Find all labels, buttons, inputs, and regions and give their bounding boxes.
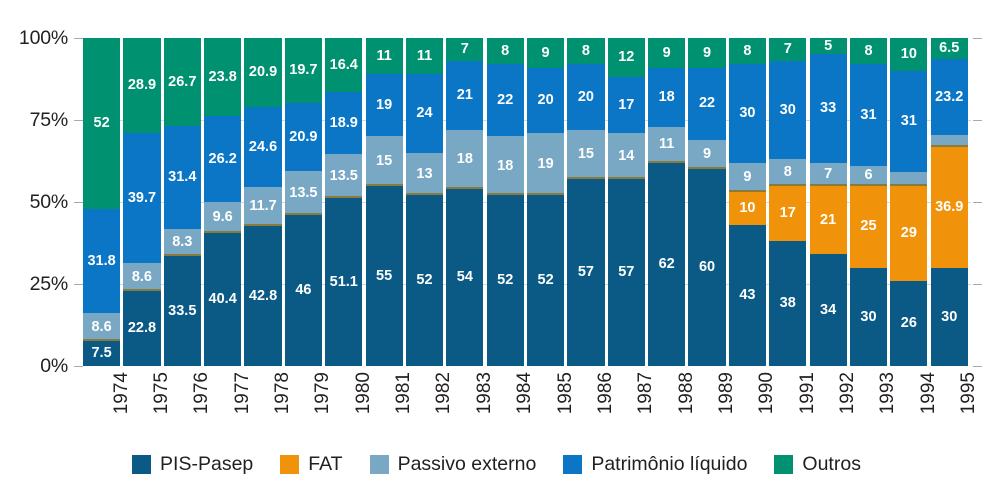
bar-segment-patrim-nio-l-quido[interactable]: 31.8 <box>83 209 120 313</box>
bar-1991[interactable]: 73081738 <box>769 38 806 366</box>
x-axis-label-1980: 1980 <box>353 372 375 414</box>
bar-segment-pis-pasep[interactable]: 26 <box>890 281 927 366</box>
x-axis-label-1983: 1983 <box>474 372 496 414</box>
bar-segment-value: 11 <box>659 137 674 152</box>
bar-segment-passivo-externo[interactable] <box>931 135 968 146</box>
legend-label: Passivo externo <box>398 453 537 476</box>
bar-segment-value: 20 <box>578 90 594 105</box>
bar-segment-value: 8 <box>582 44 590 59</box>
bar-1994[interactable]: 10312926 <box>890 38 927 366</box>
x-axis-label-1986: 1986 <box>595 372 617 414</box>
bar-1990[interactable]: 83091043 <box>729 38 766 366</box>
bar-segment-value: 30 <box>739 106 755 121</box>
bar-segment-fat[interactable]: 25 <box>850 186 887 268</box>
y-axis-tick-mark-right <box>973 366 982 367</box>
y-axis-tick-mark <box>74 366 83 367</box>
bar-segment-value: 57 <box>578 265 594 280</box>
bar-segment-passivo-externo[interactable]: 6 <box>850 166 887 186</box>
bar-segment-value: 28.9 <box>128 78 156 93</box>
bar-segment-pis-pasep[interactable]: 40.4 <box>204 233 241 366</box>
x-axis-label-1989: 1989 <box>716 372 738 414</box>
bar-segment-value: 15 <box>578 147 594 162</box>
legend-label: PIS-Pasep <box>160 453 253 476</box>
bar-segment-value: 8 <box>501 44 509 59</box>
bar-segment-outros[interactable]: 5 <box>810 38 847 54</box>
bar-segment-outros[interactable]: 10 <box>890 38 927 71</box>
bar-segment-value: 52 <box>416 273 432 288</box>
legend-color-swatch <box>774 455 793 474</box>
bar-segment-value: 22 <box>497 93 513 108</box>
bar-segment-value: 8.6 <box>132 270 152 285</box>
bar-segment-value: 17 <box>618 98 634 113</box>
bar-segment-patrim-nio-l-quido[interactable]: 26.2 <box>204 116 241 202</box>
bar-segment-outros[interactable]: 6.5 <box>931 38 968 59</box>
legend-color-swatch <box>563 455 582 474</box>
bar-segment-value: 39.7 <box>128 191 156 206</box>
bar-segment-value: 13 <box>416 167 432 182</box>
bar-1981[interactable]: 11191555 <box>366 38 403 366</box>
bar-segment-passivo-externo[interactable]: 8.6 <box>83 313 120 341</box>
x-axis-label-1993: 1993 <box>877 372 899 414</box>
y-axis-tick-label: 50% <box>30 191 74 214</box>
bar-segment-patrim-nio-l-quido[interactable]: 30 <box>769 61 806 159</box>
bar-segment-passivo-externo[interactable]: 15 <box>567 130 604 179</box>
bar-segment-value: 20.9 <box>289 130 317 145</box>
bar-segment-outros[interactable]: 16.4 <box>325 38 362 92</box>
legend-label: Patrimônio líquido <box>591 453 747 476</box>
bar-segment-pis-pasep[interactable]: 43 <box>729 225 766 366</box>
chart-legend: PIS-PasepFATPassivo externoPatrimônio lí… <box>0 453 993 476</box>
bar-segment-passivo-externo[interactable]: 9 <box>729 163 766 193</box>
bar-segment-value: 8 <box>864 44 872 59</box>
bar-1978[interactable]: 20.924.611.742.8 <box>244 38 281 366</box>
bar-1984[interactable]: 8221852 <box>487 38 524 366</box>
y-axis-tick-mark-right <box>973 38 982 39</box>
bar-segment-pis-pasep[interactable]: 54 <box>446 189 483 366</box>
bar-segment-value: 10 <box>901 47 917 62</box>
bar-segment-value: 5 <box>824 39 832 54</box>
bar-segment-outros[interactable]: 11 <box>366 38 403 74</box>
bar-segment-value: 15 <box>376 154 392 169</box>
bar-segment-value: 52 <box>497 273 513 288</box>
bar-segment-outros[interactable]: 8 <box>729 38 766 64</box>
x-axis-label-1974: 1974 <box>111 372 133 414</box>
bar-segment-value: 11 <box>376 49 391 64</box>
bar-segment-pis-pasep[interactable]: 51.1 <box>325 198 362 366</box>
bar-segment-outros[interactable]: 28.9 <box>123 38 160 133</box>
bar-segment-outros[interactable]: 9 <box>688 38 725 68</box>
bar-segment-pis-pasep[interactable]: 30 <box>931 268 968 366</box>
bar-segment-value: 55 <box>376 269 392 284</box>
bar-segment-pis-pasep[interactable]: 42.8 <box>244 226 281 366</box>
y-axis-tick-mark <box>74 284 83 285</box>
y-axis-tick-label: 25% <box>30 273 74 296</box>
bar-1983[interactable]: 7211854 <box>446 38 483 366</box>
bar-segment-value: 18 <box>497 159 513 174</box>
bar-1977[interactable]: 23.826.29.640.4 <box>204 38 241 366</box>
y-axis-tick-label: 0% <box>40 355 74 378</box>
bar-segment-passivo-externo[interactable] <box>890 172 927 185</box>
stacked-bar-chart: 0%25%50%75%100% 5231.88.67.528.939.78.62… <box>0 0 993 484</box>
legend-color-swatch <box>370 455 389 474</box>
bar-segment-fat[interactable]: 10 <box>729 192 766 225</box>
y-axis-tick-label: 75% <box>30 109 74 132</box>
bar-segment-value: 6.5 <box>939 41 959 56</box>
bar-segment-value: 38 <box>780 296 796 311</box>
bar-segment-patrim-nio-l-quido[interactable]: 24.6 <box>244 107 281 188</box>
bar-1995[interactable]: 6.523.236.930 <box>931 38 968 366</box>
bar-segment-pis-pasep[interactable]: 55 <box>366 186 403 366</box>
bar-1989[interactable]: 922960 <box>688 38 725 366</box>
legend-item-pis-pasep[interactable]: PIS-Pasep <box>132 453 253 476</box>
bar-segment-value: 20.9 <box>249 65 277 80</box>
x-axis-label-1979: 1979 <box>312 372 334 414</box>
bar-segment-patrim-nio-l-quido[interactable]: 31 <box>850 64 887 166</box>
x-axis-label-1995: 1995 <box>958 372 980 414</box>
bar-segment-value: 52 <box>94 116 110 131</box>
bar-segment-patrim-nio-l-quido[interactable]: 18.9 <box>325 92 362 154</box>
bar-1982[interactable]: 11241352 <box>406 38 443 366</box>
y-axis-tick-mark-right <box>973 202 982 203</box>
bar-segment-value: 8 <box>743 44 751 59</box>
bar-segment-value: 31 <box>901 114 917 129</box>
bar-segment-value: 25 <box>860 219 876 234</box>
bar-segment-patrim-nio-l-quido[interactable]: 33 <box>810 54 847 162</box>
bar-segment-fat[interactable]: 17 <box>769 186 806 242</box>
bar-segment-value: 23.2 <box>935 90 963 105</box>
bar-segment-outros[interactable]: 7 <box>446 38 483 61</box>
bar-segment-value: 9 <box>542 46 550 61</box>
bar-segment-value: 42.8 <box>249 289 277 304</box>
bar-segment-pis-pasep[interactable]: 60 <box>688 169 725 366</box>
legend-label: Outros <box>802 453 861 476</box>
x-axis-label-1984: 1984 <box>514 372 536 414</box>
bar-segment-pis-pasep[interactable]: 62 <box>648 163 685 366</box>
bar-segment-value: 12 <box>618 50 634 65</box>
bar-segment-value: 21 <box>457 88 473 103</box>
bar-segment-value: 54 <box>457 270 473 285</box>
bar-segment-value: 9 <box>703 46 711 61</box>
bar-segment-pis-pasep[interactable]: 52 <box>487 195 524 366</box>
bar-segment-fat[interactable]: 36.9 <box>931 147 968 268</box>
bar-segment-value: 31 <box>860 108 876 123</box>
bar-segment-pis-pasep[interactable]: 38 <box>769 241 806 366</box>
bar-segment-value: 8 <box>784 165 792 180</box>
bar-segment-value: 18 <box>659 90 675 105</box>
x-axis-label-1981: 1981 <box>393 372 415 414</box>
bar-segment-patrim-nio-l-quido[interactable]: 22 <box>688 68 725 140</box>
bar-segment-value: 26.2 <box>209 152 237 167</box>
bar-segment-value: 13.5 <box>289 186 317 201</box>
bar-segment-patrim-nio-l-quido[interactable]: 22 <box>487 64 524 136</box>
bar-segment-value: 6 <box>864 168 872 183</box>
bar-segment-value: 23.8 <box>209 70 237 85</box>
y-axis-tick-mark <box>74 38 83 39</box>
bar-segment-value: 22.8 <box>128 321 156 336</box>
x-axis-label-1976: 1976 <box>191 372 213 414</box>
bar-segment-value: 60 <box>699 260 715 275</box>
bar-1988[interactable]: 9181162 <box>648 38 685 366</box>
bar-segment-value: 30 <box>860 310 876 325</box>
legend-color-swatch <box>132 455 151 474</box>
bar-segment-value: 24 <box>416 106 432 121</box>
bar-segment-passivo-externo[interactable]: 9 <box>688 140 725 170</box>
x-axis-label-1992: 1992 <box>837 372 859 414</box>
bar-segment-outros[interactable]: 20.9 <box>244 38 281 107</box>
bar-segment-pis-pasep[interactable]: 57 <box>567 179 604 366</box>
bar-segment-value: 40.4 <box>209 292 237 307</box>
bar-segment-outros[interactable]: 23.8 <box>204 38 241 116</box>
x-axis-label-1982: 1982 <box>433 372 455 414</box>
bar-segment-value: 9 <box>703 147 711 162</box>
bar-segment-value: 51.1 <box>330 275 358 290</box>
bar-1975[interactable]: 28.939.78.622.8 <box>123 38 160 366</box>
bar-segment-value: 16.4 <box>330 58 358 73</box>
bar-segment-pis-pasep[interactable]: 30 <box>850 268 887 366</box>
bar-segment-pis-pasep[interactable]: 52 <box>527 195 564 366</box>
x-axis-label-1975: 1975 <box>151 372 173 414</box>
bar-1985[interactable]: 9201952 <box>527 38 564 366</box>
bar-segment-pis-pasep[interactable]: 57 <box>608 179 645 366</box>
bar-segment-patrim-nio-l-quido[interactable]: 39.7 <box>123 133 160 263</box>
legend-item-outros[interactable]: Outros <box>774 453 861 476</box>
bar-segment-patrim-nio-l-quido[interactable]: 31 <box>890 71 927 173</box>
bar-1974[interactable]: 5231.88.67.5 <box>83 38 120 366</box>
bar-segment-pis-pasep[interactable]: 22.8 <box>123 291 160 366</box>
bar-segment-outros[interactable]: 26.7 <box>164 38 201 126</box>
bar-segment-value: 24.6 <box>249 140 277 155</box>
x-axis-label-1977: 1977 <box>232 372 254 414</box>
bar-segment-outros[interactable]: 9 <box>527 38 564 68</box>
bar-segment-patrim-nio-l-quido[interactable]: 21 <box>446 61 483 130</box>
bar-segment-passivo-externo[interactable]: 19 <box>527 133 564 195</box>
bar-segment-value: 31.8 <box>87 254 115 269</box>
bar-segment-passivo-externo[interactable]: 13.5 <box>285 171 322 215</box>
bar-segment-passivo-externo[interactable]: 7 <box>810 163 847 186</box>
bar-segment-value: 21 <box>820 213 836 228</box>
bar-segment-passivo-externo[interactable]: 9.6 <box>204 202 241 233</box>
bar-segment-outros[interactable]: 7 <box>769 38 806 61</box>
bar-segment-value: 11 <box>417 49 432 64</box>
bar-segment-value: 26 <box>901 316 917 331</box>
y-axis-tick-mark-right <box>973 284 982 285</box>
x-axis-label-1991: 1991 <box>797 372 819 414</box>
bar-segment-value: 33 <box>820 101 836 116</box>
x-axis-label-1994: 1994 <box>918 372 940 414</box>
bar-segment-passivo-externo[interactable]: 13 <box>406 153 443 196</box>
bar-segment-patrim-nio-l-quido[interactable]: 19 <box>366 74 403 136</box>
bar-segment-value: 8.3 <box>172 235 192 250</box>
bar-segment-value: 7 <box>784 42 792 57</box>
bar-segment-outros[interactable]: 52 <box>83 38 120 209</box>
bar-1993[interactable]: 83162530 <box>850 38 887 366</box>
bar-segment-outros[interactable]: 9 <box>648 38 685 68</box>
bar-segment-value: 7.5 <box>91 346 111 361</box>
bar-1992[interactable]: 53372134 <box>810 38 847 366</box>
x-axis-label-1990: 1990 <box>756 372 778 414</box>
bar-segment-value: 57 <box>618 265 634 280</box>
bar-1980[interactable]: 16.418.913.551.1 <box>325 38 362 366</box>
bar-segment-outros[interactable]: 8 <box>567 38 604 64</box>
bar-segment-pis-pasep[interactable]: 34 <box>810 254 847 366</box>
bar-segment-value: 13.5 <box>330 169 358 184</box>
bar-segment-value: 9.6 <box>213 210 233 225</box>
bar-segment-outros[interactable]: 12 <box>608 38 645 77</box>
bar-1976[interactable]: 26.731.48.333.5 <box>164 38 201 366</box>
bar-segment-value: 7 <box>824 167 832 182</box>
bar-segment-value: 43 <box>739 288 755 303</box>
bar-segment-value: 8.6 <box>91 320 111 335</box>
bar-segment-value: 7 <box>461 42 469 57</box>
bar-segment-pis-pasep[interactable]: 7.5 <box>83 341 120 366</box>
bar-segment-patrim-nio-l-quido[interactable]: 20 <box>527 68 564 134</box>
bar-segment-passivo-externo[interactable]: 8.6 <box>123 263 160 291</box>
bar-segment-patrim-nio-l-quido[interactable]: 30 <box>729 64 766 162</box>
bar-segment-outros[interactable]: 19.7 <box>285 38 322 103</box>
y-axis-tick-mark <box>74 202 83 203</box>
x-axis-label-1985: 1985 <box>555 372 577 414</box>
bar-segment-value: 46 <box>295 283 311 298</box>
bar-segment-fat[interactable]: 21 <box>810 186 847 255</box>
legend-item-patrim-nio-l-quido[interactable]: Patrimônio líquido <box>563 453 747 476</box>
bar-segment-value: 19 <box>376 98 392 113</box>
plot-area: 5231.88.67.528.939.78.622.826.731.48.333… <box>83 38 971 366</box>
bar-segment-value: 30 <box>780 103 796 118</box>
y-axis: 0%25%50%75%100% <box>0 0 83 484</box>
bar-segment-value: 34 <box>820 303 836 318</box>
bar-segment-value: 11.7 <box>249 199 276 214</box>
bar-segment-patrim-nio-l-quido[interactable]: 24 <box>406 74 443 153</box>
bar-segment-value: 36.9 <box>935 200 963 215</box>
bar-segment-value: 10 <box>739 201 755 216</box>
x-axis-label-1987: 1987 <box>635 372 657 414</box>
bar-segment-value: 17 <box>780 206 796 221</box>
bar-segment-value: 29 <box>901 226 917 241</box>
bar-segment-value: 33.5 <box>168 304 196 319</box>
bar-1979[interactable]: 19.720.913.546 <box>285 38 322 366</box>
bar-segment-value: 19 <box>538 157 554 172</box>
bar-segment-patrim-nio-l-quido[interactable]: 17 <box>608 77 645 133</box>
bar-segment-pis-pasep[interactable]: 46 <box>285 215 322 366</box>
legend-item-fat[interactable]: FAT <box>280 453 342 476</box>
bar-segment-value: 20 <box>538 93 554 108</box>
x-axis-label-1988: 1988 <box>676 372 698 414</box>
bar-segment-passivo-externo[interactable]: 8 <box>769 159 806 185</box>
x-axis: 1974197519761977197819791980198119821983… <box>83 372 971 442</box>
bar-segment-pis-pasep[interactable]: 33.5 <box>164 256 201 366</box>
bar-segment-passivo-externo[interactable]: 18 <box>487 136 524 195</box>
bar-segment-value: 9 <box>743 170 751 185</box>
bar-segment-value: 52 <box>538 273 554 288</box>
bar-segment-value: 9 <box>663 46 671 61</box>
bar-segment-patrim-nio-l-quido[interactable]: 20 <box>567 64 604 130</box>
y-axis-tick-mark-right <box>973 120 982 121</box>
y-axis-tick-label: 100% <box>19 27 74 50</box>
bar-segment-passivo-externo[interactable]: 11 <box>648 127 685 163</box>
bar-segment-value: 31.4 <box>168 170 196 185</box>
bar-segment-value: 62 <box>659 257 675 272</box>
legend-item-passivo-externo[interactable]: Passivo externo <box>370 453 537 476</box>
bar-segment-value: 18.9 <box>330 116 358 131</box>
bar-segment-passivo-externo[interactable]: 18 <box>446 130 483 189</box>
x-axis-label-1978: 1978 <box>272 372 294 414</box>
bar-segment-value: 18 <box>457 152 473 167</box>
bar-segment-passivo-externo[interactable]: 13.5 <box>325 154 362 198</box>
bar-segment-value: 26.7 <box>168 75 196 90</box>
bar-segment-patrim-nio-l-quido[interactable]: 20.9 <box>285 103 322 171</box>
bar-segment-outros[interactable]: 8 <box>487 38 524 64</box>
bar-segment-value: 14 <box>618 149 634 164</box>
bar-segment-value: 22 <box>699 96 715 111</box>
bar-segment-value: 30 <box>941 310 957 325</box>
bar-segment-outros[interactable]: 8 <box>850 38 887 64</box>
bar-1987[interactable]: 12171457 <box>608 38 645 366</box>
bar-segment-fat[interactable]: 29 <box>890 186 927 281</box>
bar-segment-value: 19.7 <box>289 63 317 78</box>
bar-1986[interactable]: 8201557 <box>567 38 604 366</box>
bar-segment-passivo-externo[interactable]: 11.7 <box>244 187 281 225</box>
bar-segment-pis-pasep[interactable]: 52 <box>406 195 443 366</box>
legend-label: FAT <box>308 453 342 476</box>
bar-segment-passivo-externo[interactable]: 8.3 <box>164 229 201 256</box>
y-axis-tick-mark <box>74 120 83 121</box>
bar-segment-passivo-externo[interactable]: 14 <box>608 133 645 179</box>
bar-segment-outros[interactable]: 11 <box>406 38 443 74</box>
bar-segment-passivo-externo[interactable]: 15 <box>366 136 403 185</box>
bar-segment-patrim-nio-l-quido[interactable]: 23.2 <box>931 59 968 135</box>
bar-segment-patrim-nio-l-quido[interactable]: 31.4 <box>164 126 201 229</box>
legend-color-swatch <box>280 455 299 474</box>
bar-segment-patrim-nio-l-quido[interactable]: 18 <box>648 68 685 127</box>
